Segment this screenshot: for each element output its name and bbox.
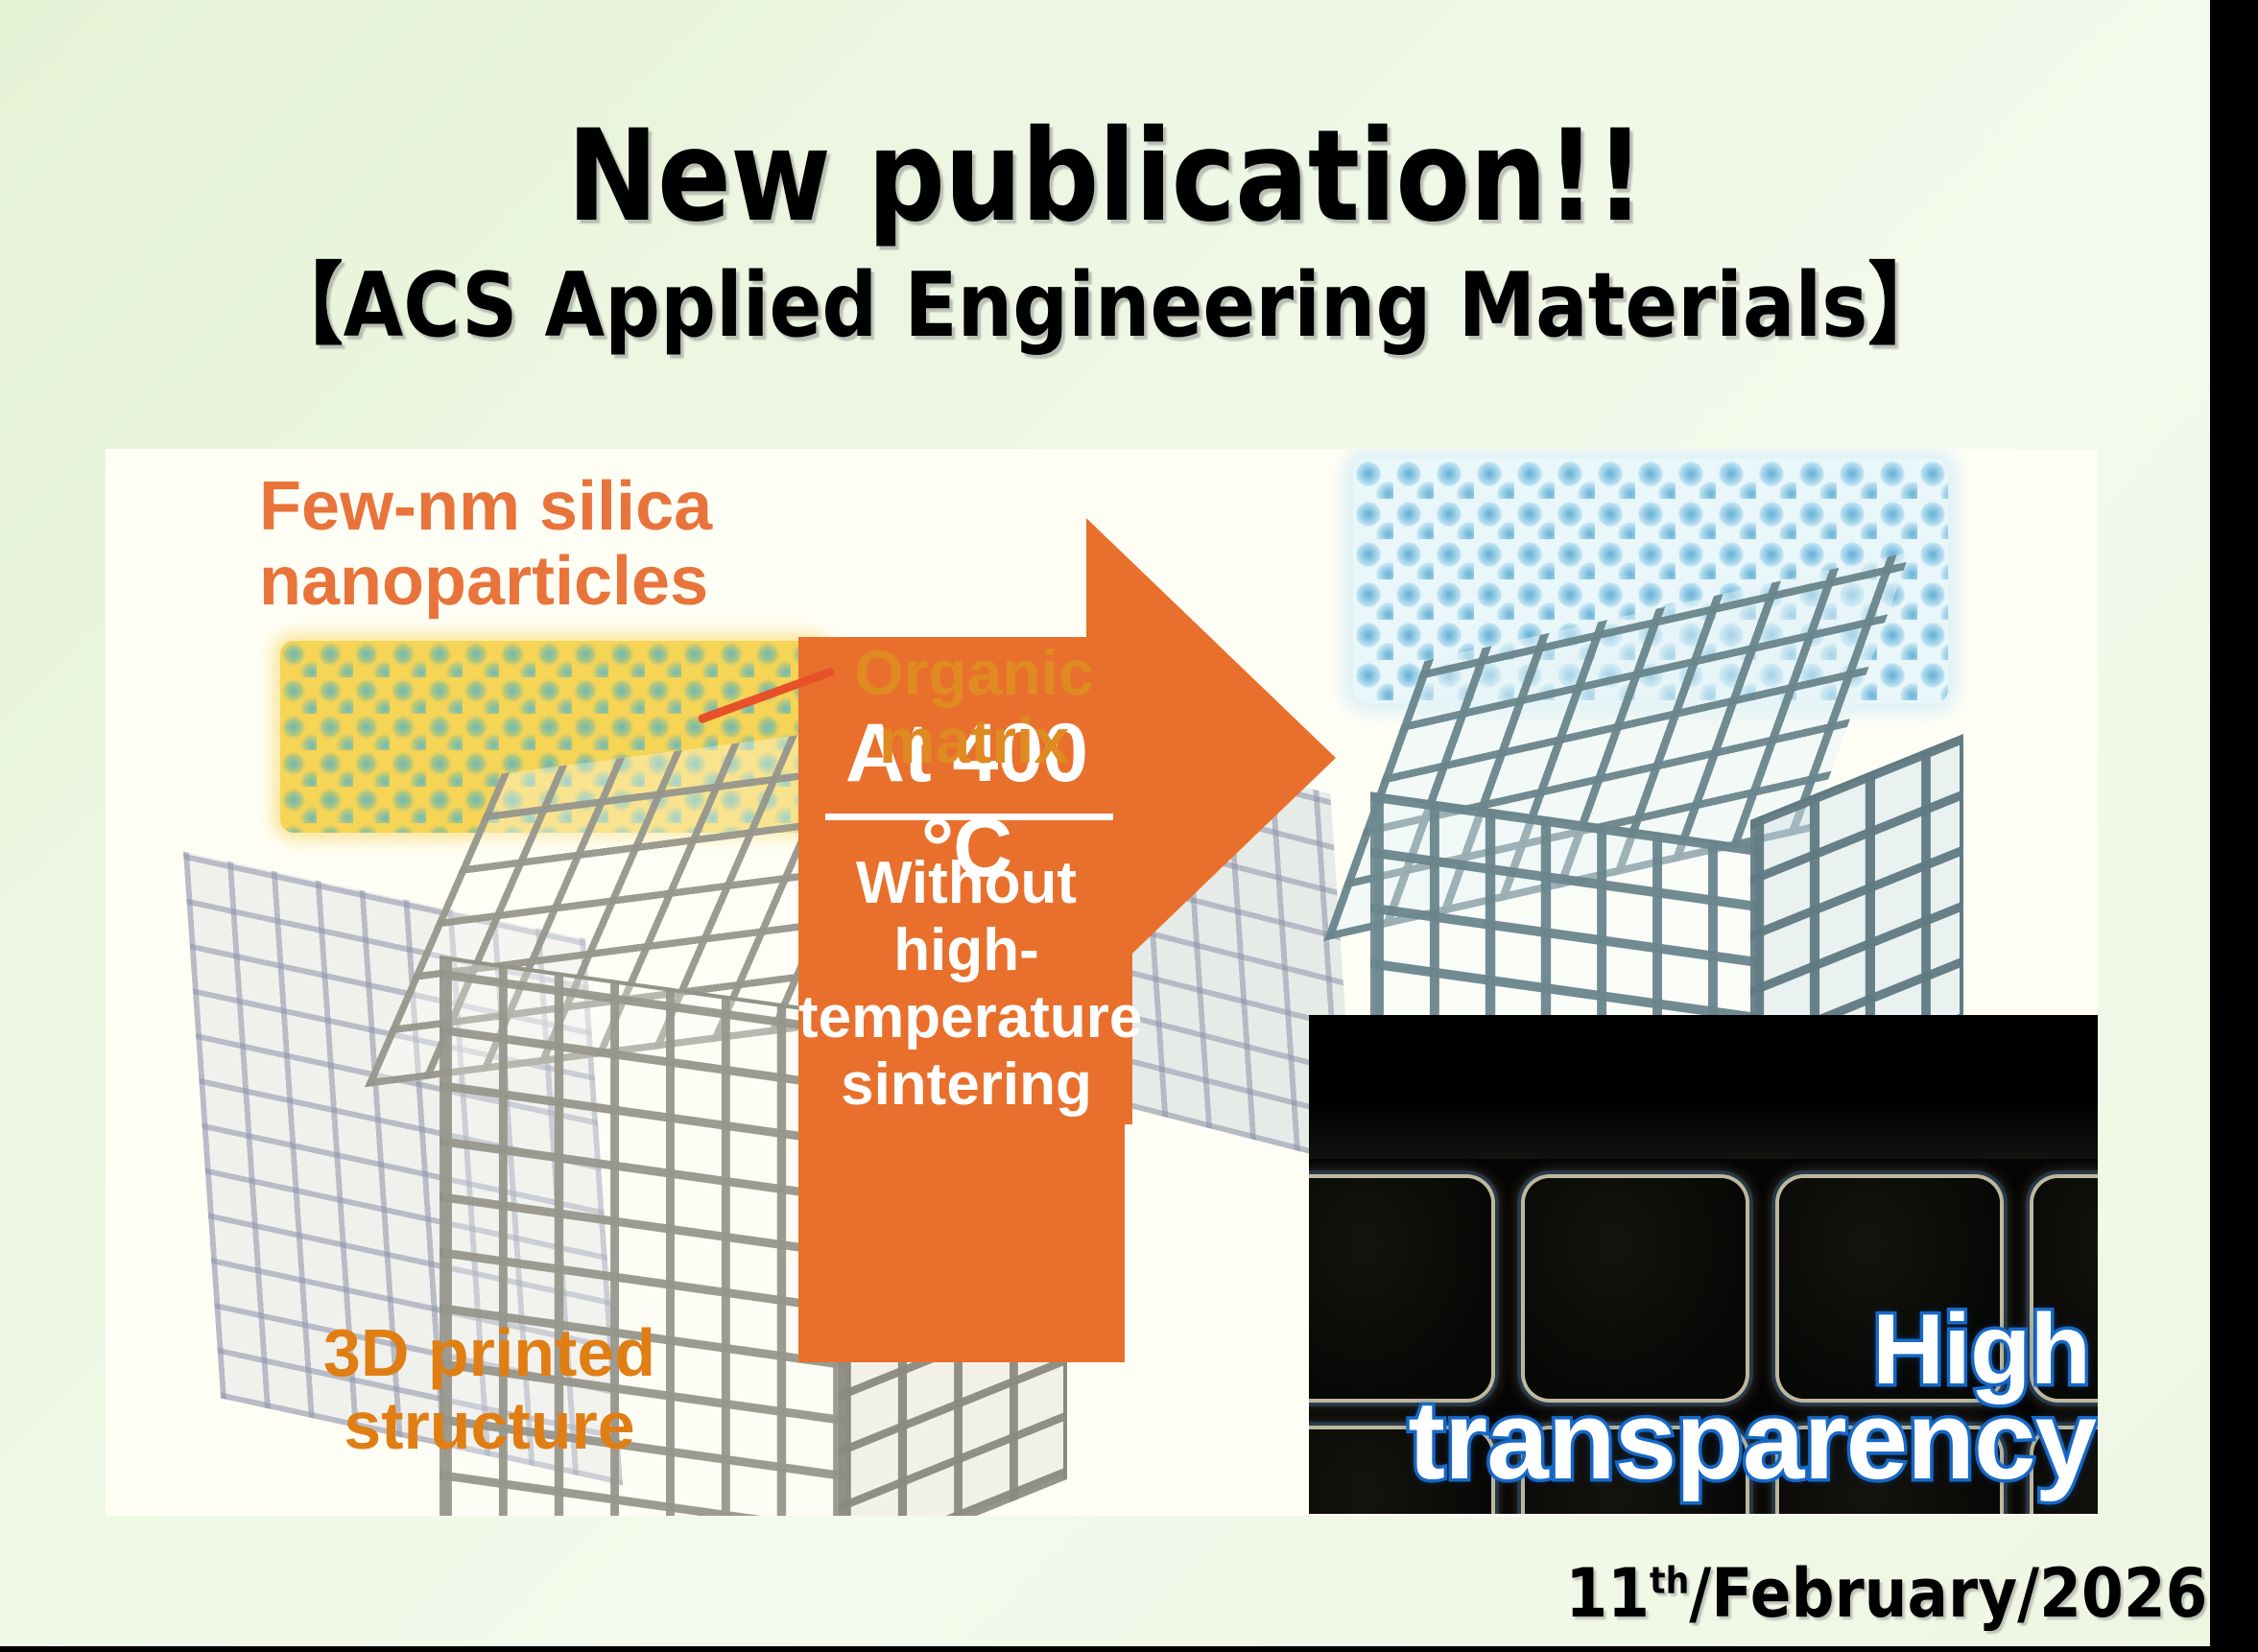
page-subtitle: 【ACS Applied Engineering Materials】 xyxy=(144,261,2067,350)
title-block: New publication!! 【ACS Applied Engineeri… xyxy=(0,113,2211,350)
bottom-edge-black-bar xyxy=(0,1646,2258,1652)
transparency-microscopy-photo: High transparency xyxy=(1309,1015,2098,1514)
page-title: New publication!! xyxy=(154,113,2056,240)
date-rest: /February/2026 xyxy=(1690,1554,2208,1633)
right-edge-black-bar xyxy=(2210,0,2258,1652)
slide-root: New publication!! 【ACS Applied Engineeri… xyxy=(0,0,2258,1652)
label-organic-matrix: Organic matrix xyxy=(816,639,1132,776)
arrow-note-label: Without high- temperature sintering xyxy=(798,850,1134,1119)
publication-date: 11th/February/2026 xyxy=(1566,1554,2208,1633)
label-3d-printed-structure: 3D printed structure xyxy=(283,1317,696,1462)
photo-top-band xyxy=(1309,1015,2098,1159)
date-day: 11 xyxy=(1566,1554,1651,1633)
date-ordinal: th xyxy=(1651,1560,1690,1603)
high-transparency-label-line2: transparency xyxy=(1408,1387,2096,1494)
figure-panel: High transparency At 400 °C Without high… xyxy=(106,449,2098,1516)
photo-lattice-cell xyxy=(1309,1178,1491,1399)
label-silica-nanoparticles: Few-nm silica nanoparticles xyxy=(259,470,712,620)
photo-lattice-cell xyxy=(1525,1178,1746,1399)
arrow-temperature-underline xyxy=(825,814,1113,820)
